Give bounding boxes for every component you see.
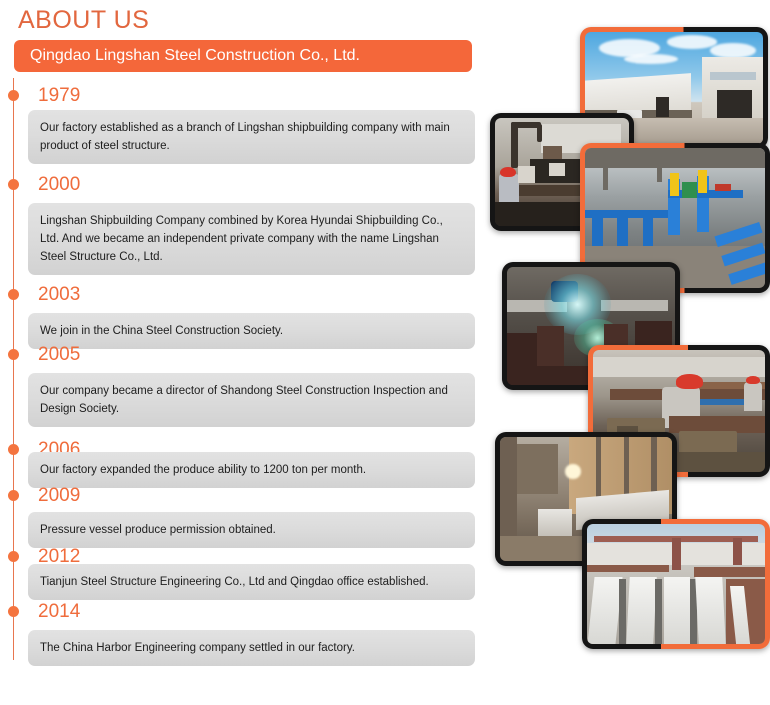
timeline-description-text: Tianjun Steel Structure Engineering Co.,… (40, 573, 463, 591)
timeline-dot (8, 289, 19, 300)
timeline-description-box: The China Harbor Engineering company set… (28, 630, 475, 666)
h-beams-image (587, 524, 765, 644)
timeline-rail (13, 78, 14, 660)
timeline-description-box: Lingshan Shipbuilding Company combined b… (28, 203, 475, 275)
timeline-year: 2014 (38, 602, 80, 621)
photo-h-beams[interactable] (582, 519, 770, 649)
timeline-dot (8, 606, 19, 617)
timeline-year: 2009 (38, 486, 80, 505)
timeline-dot (8, 490, 19, 501)
timeline-description-text: Lingshan Shipbuilding Company combined b… (40, 212, 463, 266)
timeline-dot (8, 444, 19, 455)
timeline-description-box: Tianjun Steel Structure Engineering Co.,… (28, 564, 475, 600)
page-title: ABOUT US (18, 6, 149, 35)
timeline-description-box: Our factory expanded the produce ability… (28, 452, 475, 488)
photo-collage (490, 0, 770, 705)
about-us-page: ABOUT US Qingdao Lingshan Steel Construc… (0, 0, 770, 705)
timeline-description-box: Pressure vessel produce permission obtai… (28, 512, 475, 548)
company-name-label: Qingdao Lingshan Steel Construction Co.,… (30, 47, 360, 65)
timeline-description-text: Pressure vessel produce permission obtai… (40, 521, 463, 539)
company-name-banner: Qingdao Lingshan Steel Construction Co.,… (14, 40, 472, 72)
timeline-description-text: Our factory expanded the produce ability… (40, 461, 463, 479)
timeline-dot (8, 349, 19, 360)
timeline-description-box: We join in the China Steel Construction … (28, 313, 475, 349)
timeline-description-text: Our company became a director of Shandon… (40, 382, 463, 418)
timeline-dot (8, 179, 19, 190)
timeline-year: 2000 (38, 175, 80, 194)
timeline-description-box: Our company became a director of Shandon… (28, 373, 475, 427)
timeline-year: 2003 (38, 285, 80, 304)
timeline-description-box: Our factory established as a branch of L… (28, 110, 475, 164)
timeline-dot (8, 551, 19, 562)
timeline-year: 2005 (38, 345, 80, 364)
timeline-dot (8, 90, 19, 101)
timeline-description-text: Our factory established as a branch of L… (40, 119, 463, 155)
timeline-year: 1979 (38, 86, 80, 105)
timeline-description-text: We join in the China Steel Construction … (40, 322, 463, 340)
timeline-description-text: The China Harbor Engineering company set… (40, 639, 463, 657)
timeline-column: ABOUT US Qingdao Lingshan Steel Construc… (0, 0, 490, 705)
